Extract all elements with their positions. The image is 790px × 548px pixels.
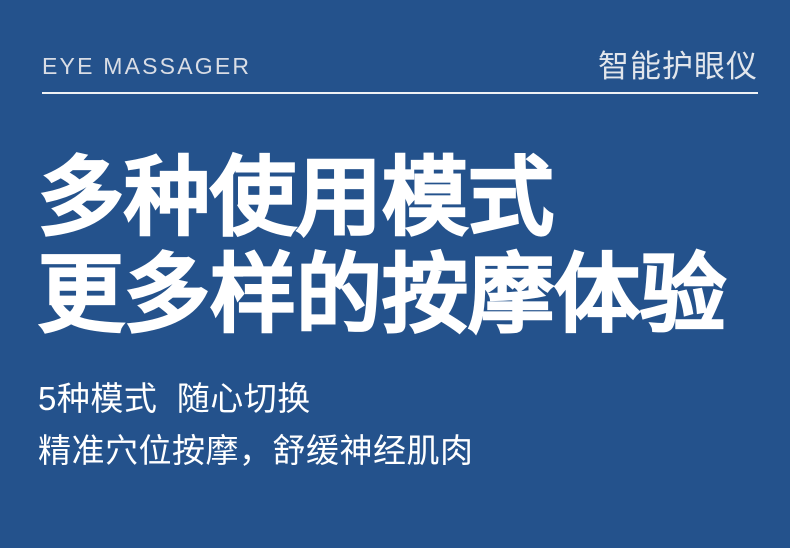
banner-header: EYE MASSAGER 智能护眼仪 bbox=[42, 44, 758, 88]
subtitle-line-1: 5种模式 随心切换 bbox=[38, 373, 778, 425]
headline-line-1: 多种使用模式 bbox=[38, 150, 778, 247]
headline-block: 多种使用模式 更多样的按摩体验 bbox=[38, 150, 778, 344]
brand-latin-label: EYE MASSAGER bbox=[42, 55, 251, 78]
subtitle-line-2: 精准穴位按摩，舒缓神经肌肉 bbox=[38, 425, 778, 477]
header-divider bbox=[42, 92, 758, 94]
headline-line-2: 更多样的按摩体验 bbox=[38, 247, 778, 344]
promo-banner: EYE MASSAGER 智能护眼仪 多种使用模式 更多样的按摩体验 5种模式 … bbox=[0, 0, 790, 548]
subtitle-block: 5种模式 随心切换 精准穴位按摩，舒缓神经肌肉 bbox=[38, 373, 778, 477]
brand-chinese-label: 智能护眼仪 bbox=[598, 51, 758, 82]
